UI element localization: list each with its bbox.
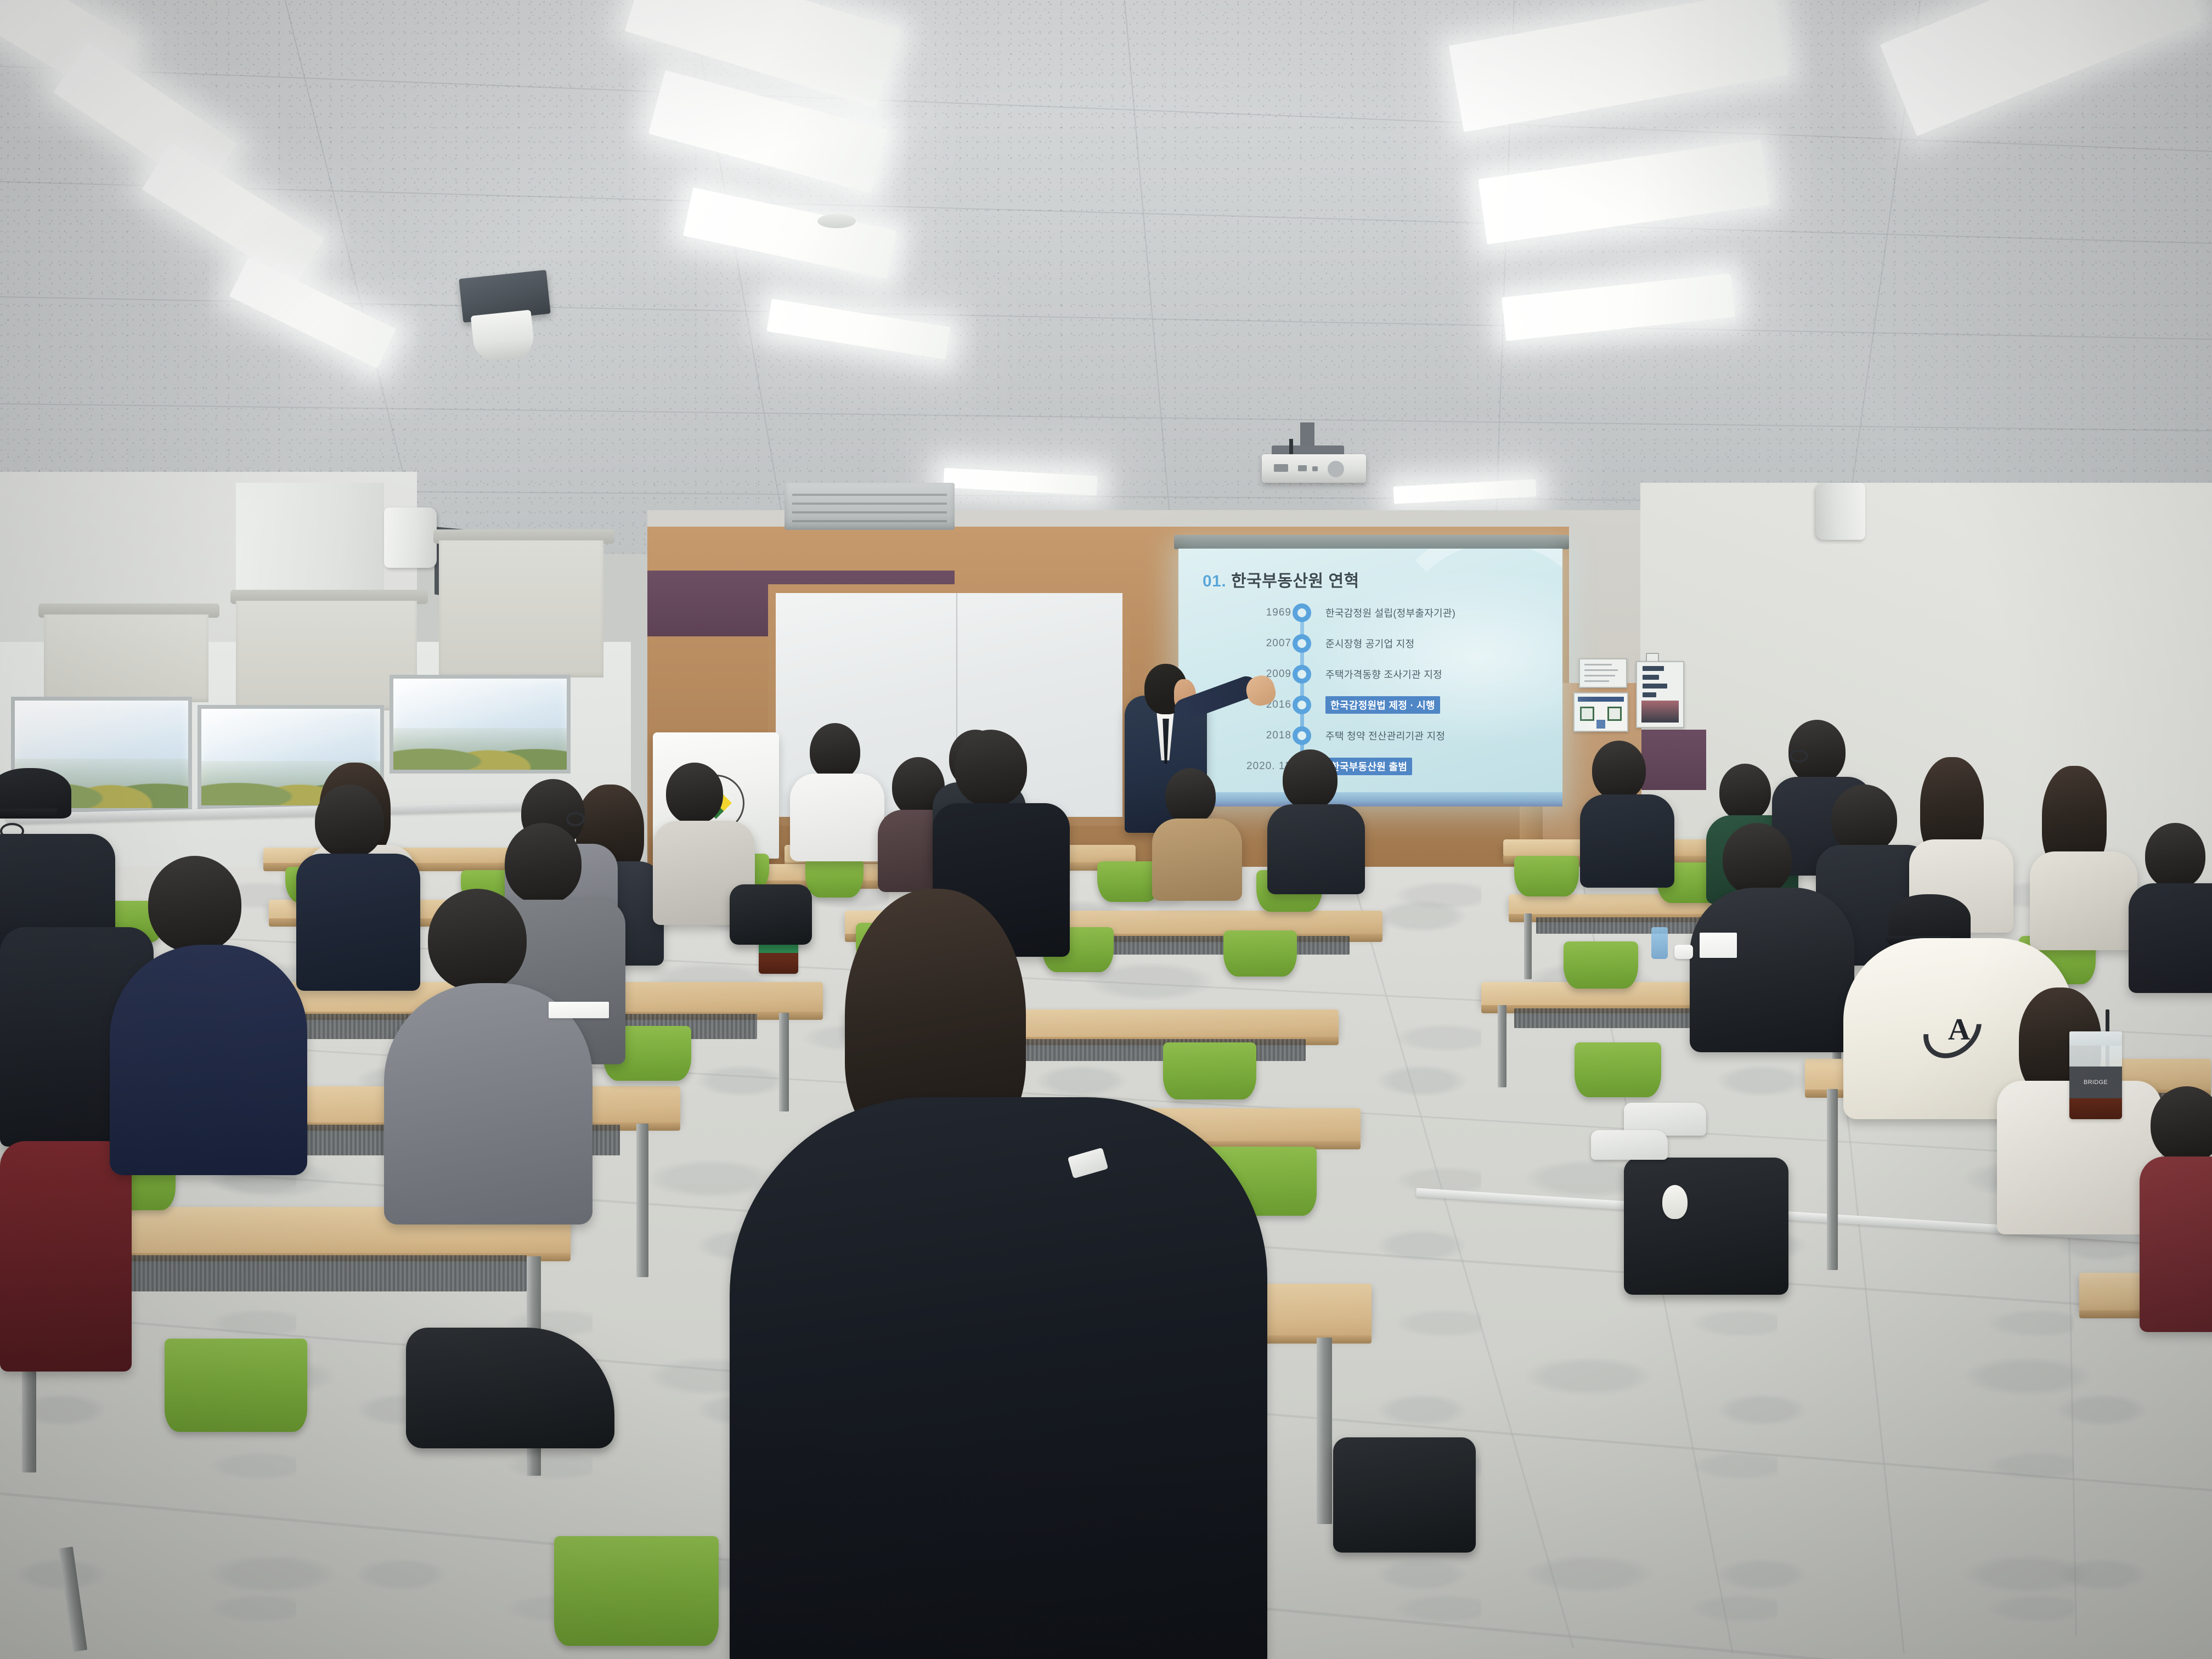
- window-blind[interactable]: [439, 540, 603, 678]
- timeline-row: 2018 주택 청약 전산관리기관 지정: [1178, 724, 1562, 747]
- cup-sleeve: BRIDGE: [2069, 1066, 2122, 1098]
- timeline-row: 2020. 12 한국부동산원 출범: [1178, 755, 1562, 778]
- slide-footer-bar: [1178, 792, 1562, 806]
- hoodie-letter-emblem: A: [1940, 1012, 1978, 1048]
- cup-contents: [759, 951, 798, 974]
- timeline-dot-icon: [1293, 634, 1311, 653]
- bag-charm-bear: [1662, 1185, 1688, 1219]
- timeline-year: 2007: [1231, 637, 1291, 650]
- window-pane: [390, 675, 571, 774]
- timeline-event: 준시장형 공기업 지정: [1325, 636, 1414, 651]
- eyeglasses-icon: [1790, 749, 1808, 763]
- sneaker: [1591, 1130, 1668, 1160]
- chair[interactable]: [165, 1339, 307, 1432]
- backpack-on-desk[interactable]: [730, 884, 812, 945]
- notebook-paper[interactable]: [1700, 933, 1737, 958]
- earbuds-case[interactable]: [1674, 945, 1693, 959]
- iced-coffee-cup[interactable]: BRIDGE: [2069, 1031, 2122, 1119]
- cup-lid: [2069, 1031, 2122, 1046]
- timeline-year: 1969: [1231, 607, 1291, 619]
- timeline-year: 2020. 12: [1231, 760, 1291, 772]
- ceiling: [0, 0, 2212, 554]
- timeline-dot-icon: [1293, 726, 1311, 745]
- backpack-on-floor[interactable]: [1624, 1158, 1788, 1295]
- timeline-event: 주택가격동향 조사기관 지정: [1325, 667, 1442, 681]
- timeline-dot-icon: [1293, 665, 1311, 684]
- backpack-on-floor[interactable]: [1333, 1437, 1476, 1553]
- wall-poster-chart: [1636, 661, 1684, 728]
- ceiling-projector: [1262, 454, 1366, 483]
- chair[interactable]: [1097, 861, 1161, 902]
- cup-sleeve-text: BRIDGE: [2084, 1079, 2108, 1086]
- chair[interactable]: [805, 859, 864, 898]
- wall-speaker-right: [1816, 483, 1865, 540]
- timeline-event: 주택 청약 전산관리기관 지정: [1325, 729, 1445, 743]
- wall-poster-safety: [1573, 692, 1628, 732]
- timeline-event: 한국감정원 설립(정부출자기관): [1325, 606, 1455, 620]
- smoke-detector: [817, 214, 856, 228]
- timeline-event-highlighted: 한국부동산원 출범: [1325, 758, 1412, 775]
- timeline-row: 2007 준시장형 공기업 지정: [1178, 632, 1562, 655]
- slide-title: 01. 한국부동산원 연혁: [1203, 567, 1359, 591]
- projection-screen-housing: [1174, 535, 1569, 549]
- timeline-row: 1969 한국감정원 설립(정부출자기관): [1178, 601, 1562, 624]
- slide-title-text: 한국부동산원 연혁: [1231, 572, 1359, 590]
- desk-leg: [1317, 1338, 1332, 1524]
- wall-speaker-left: [384, 507, 437, 568]
- timeline-dot-icon: [1293, 696, 1311, 714]
- air-conditioner-vent: [785, 483, 955, 530]
- chair[interactable]: [1514, 856, 1579, 896]
- chair[interactable]: [1575, 1042, 1661, 1097]
- desk-leg: [1827, 1089, 1838, 1270]
- chair[interactable]: [1163, 1042, 1256, 1099]
- ceiling-tile-grid: [0, 0, 2212, 554]
- cap-brim: [0, 809, 57, 819]
- chair[interactable]: [554, 1536, 719, 1646]
- wall-notice-text: [1579, 658, 1627, 688]
- desk-leg: [779, 1013, 789, 1111]
- notebook-paper[interactable]: [549, 1002, 609, 1018]
- water-bottle[interactable]: [1651, 927, 1668, 959]
- window-blind[interactable]: [44, 614, 208, 702]
- desk-leg: [1498, 1005, 1506, 1087]
- desk-leg: [636, 1124, 648, 1277]
- chair[interactable]: [1223, 930, 1297, 977]
- timeline-event-highlighted: 한국감정원법 제정 · 시행: [1325, 696, 1440, 714]
- projection-screen[interactable]: 01. 한국부동산원 연혁 1969 한국감정원 설립(정부출자기관) 2007…: [1178, 549, 1562, 806]
- desk-leg: [1524, 913, 1532, 979]
- slide-number: 01.: [1203, 572, 1226, 590]
- timeline-year: 2018: [1231, 730, 1291, 742]
- lecture-hall-photo: 01. 한국부동산원 연혁 1969 한국감정원 설립(정부출자기관) 2007…: [0, 0, 2212, 1659]
- timeline-dot-icon: [1293, 603, 1311, 622]
- chair[interactable]: [1564, 941, 1638, 989]
- eyeglasses-icon: [566, 812, 585, 826]
